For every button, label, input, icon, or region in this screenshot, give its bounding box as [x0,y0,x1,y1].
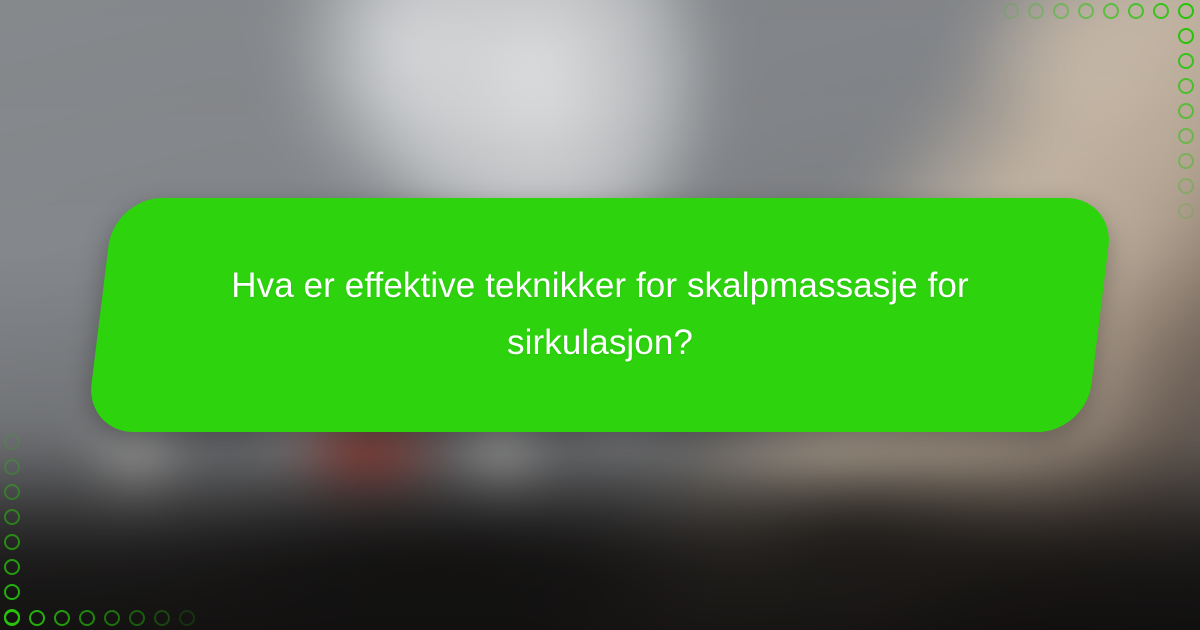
question-card: Hva er effektive teknikker for skalpmass… [100,198,1100,432]
question-text: Hva er effektive teknikker for skalpmass… [100,198,1100,432]
quote-card-canvas: Hva er effektive teknikker for skalpmass… [0,0,1200,630]
